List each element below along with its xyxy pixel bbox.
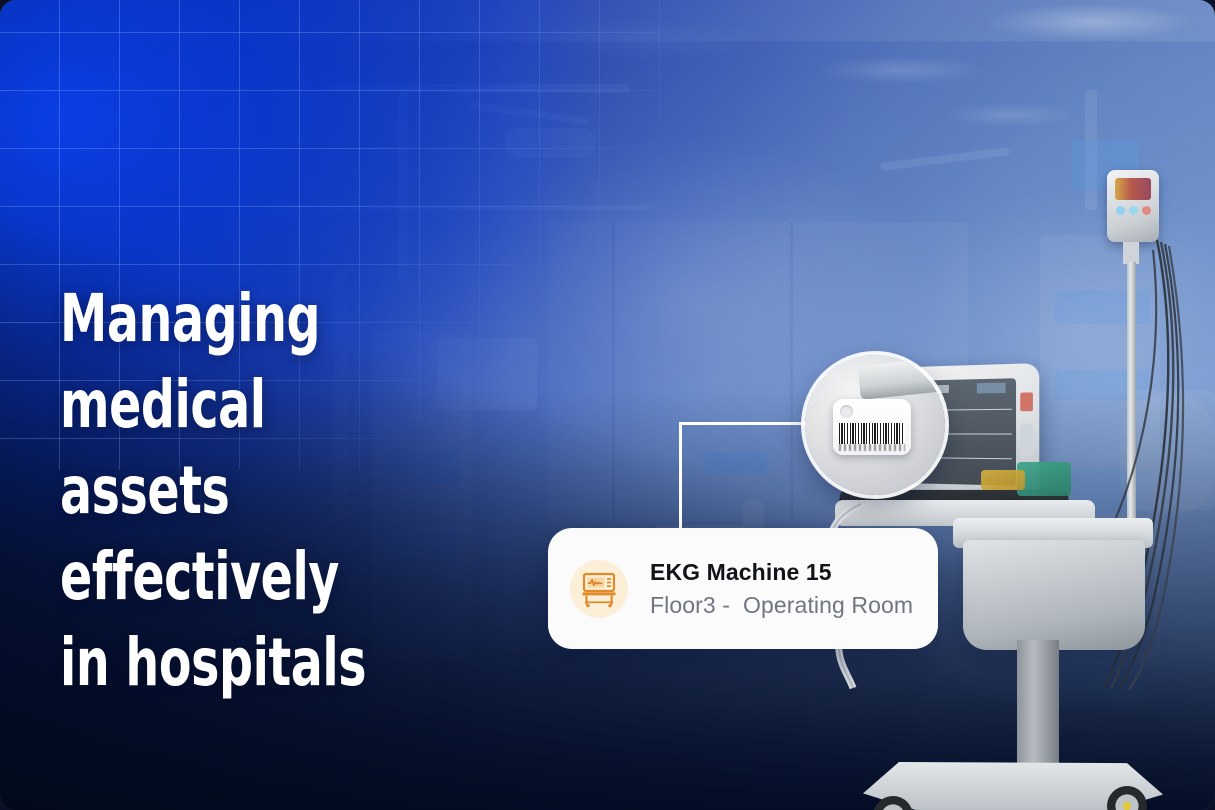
ekg-monitor-icon	[580, 570, 618, 608]
avatar	[570, 560, 628, 618]
label-hole-icon	[840, 405, 853, 418]
cart-basket	[963, 540, 1145, 650]
asset-location: Floor3 - Operating Room	[650, 589, 913, 621]
barcode-digits	[839, 444, 905, 451]
asset-barcode-label	[833, 399, 911, 455]
hero-banner: Managing medical assets effectively in h…	[0, 0, 1215, 810]
barcode-magnifier	[805, 355, 945, 495]
asset-info-card[interactable]: EKG Machine 15 Floor3 - Operating Room	[548, 528, 938, 649]
page-title: Managing medical assets effectively in h…	[60, 276, 492, 706]
asset-name: EKG Machine 15	[650, 557, 913, 587]
callout-connector-vertical	[679, 422, 682, 530]
asset-card-text: EKG Machine 15 Floor3 - Operating Room	[650, 557, 913, 621]
barcode-icon	[839, 423, 905, 444]
callout-connector-horizontal	[679, 422, 817, 425]
